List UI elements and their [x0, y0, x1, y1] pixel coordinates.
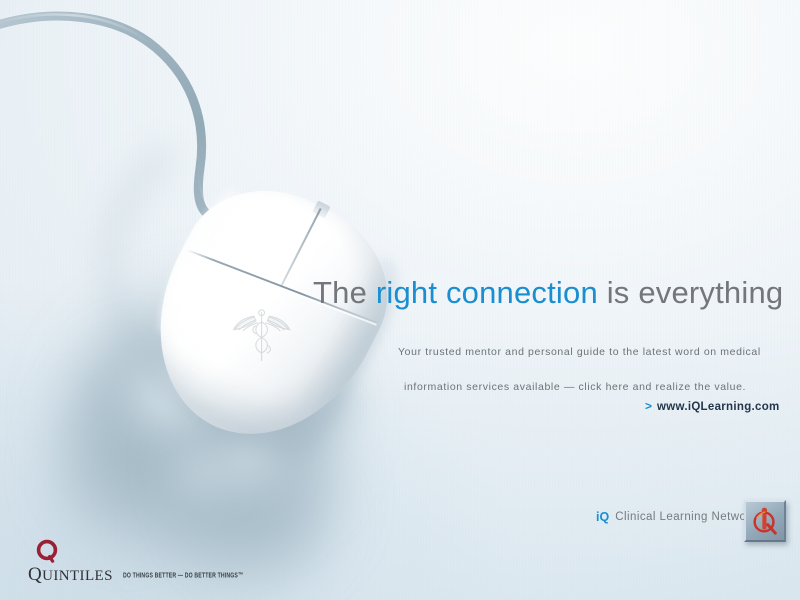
quintiles-wordmark-rest: UINTILES	[42, 568, 113, 584]
iq-monogram-glyph	[750, 506, 780, 536]
corporate-brand-lockup: QUINTILES DO THINGS BETTER — DO BETTER T…	[28, 538, 254, 584]
headline-accent: right connection	[376, 275, 598, 310]
quintiles-wordmark: QUINTILES	[28, 565, 113, 584]
quintiles-stack: QUINTILES	[28, 538, 113, 584]
body-copy: Your trusted mentor and personal guide t…	[398, 335, 782, 405]
website-link[interactable]: > www.iQLearning.com	[645, 399, 780, 413]
page-title: The right connection is everything	[313, 277, 783, 308]
headline-prefix: The	[313, 275, 376, 310]
advertisement-canvas: The right connection is everything Your …	[0, 0, 800, 600]
caduceus-icon	[231, 304, 293, 366]
quintiles-ring-icon	[34, 538, 60, 564]
chevron-right-icon: >	[645, 399, 652, 413]
quintiles-wordmark-cap: Q	[28, 564, 42, 585]
product-brand-name: Clinical Learning Network	[615, 511, 757, 523]
corporate-tagline: DO THINGS BETTER — DO BETTER THINGS™	[123, 572, 243, 580]
product-brand-lockup: iQ Clinical Learning Network	[596, 510, 757, 524]
body-copy-line-1: Your trusted mentor and personal guide t…	[398, 335, 782, 370]
headline-suffix: is everything	[598, 275, 783, 310]
website-url-text[interactable]: www.iQLearning.com	[657, 401, 780, 413]
iq-q-monogram-icon[interactable]	[744, 500, 786, 542]
iq-mark: iQ	[596, 510, 609, 524]
